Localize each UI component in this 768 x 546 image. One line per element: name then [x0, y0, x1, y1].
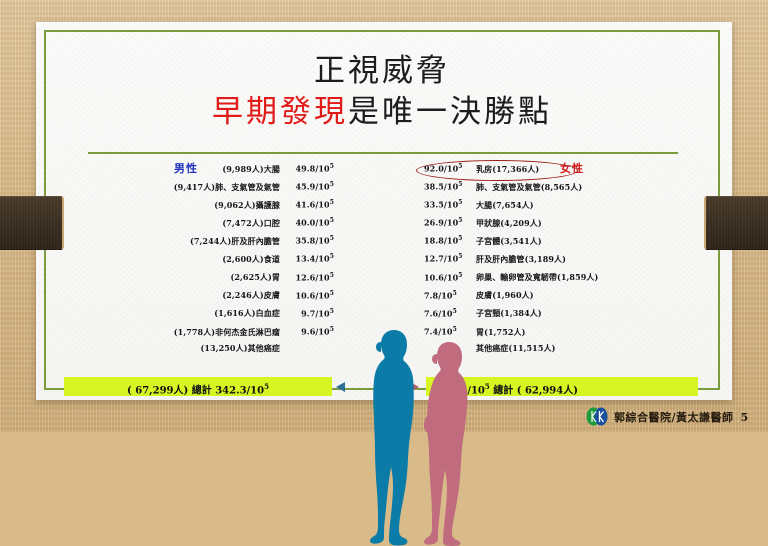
footer-credit: 郭綜合醫院/黃太謙醫師5 — [614, 409, 749, 425]
female-site-label: 子宮頸(1,384人) — [476, 304, 542, 322]
male-rate-value: 45.9/105 — [284, 176, 334, 196]
male-site-label: (7,244人)肝及肝內膽管 — [190, 232, 280, 250]
footer-credit-text: 郭綜合醫院/黃太謙醫師 — [614, 411, 734, 424]
male-data-column: (9,989人)大腸49.8/105(9,417人)肺、支氣管及氣管45.9/1… — [44, 158, 340, 357]
cancer-incidence-table: 男性 女性 (9,989人)大腸49.8/105(9,417人)肺、支氣管及氣管… — [44, 158, 720, 396]
footer-page-number: 5 — [741, 411, 749, 424]
male-rate-value: 35.8/105 — [284, 230, 334, 250]
male-rate-value: 41.6/105 — [284, 194, 334, 214]
male-site-label: (1,778人)非何杰金氏淋巴瘤 — [174, 323, 280, 341]
female-row: 38.5/105肺、支氣管及氣管(8,565人) — [418, 176, 718, 194]
female-site-label: 乳房(17,366人) — [476, 160, 539, 178]
female-site-label: 其他癌症(11,515人) — [476, 339, 556, 357]
female-rate-value: 33.5/105 — [424, 194, 472, 214]
female-site-label: 子宮體(3,541人) — [476, 232, 542, 250]
male-row: (9,417人)肺、支氣管及氣管45.9/105 — [44, 176, 340, 194]
male-site-label: (9,062人)攝護腺 — [214, 196, 280, 214]
female-rate-value: 26.9/105 — [424, 212, 472, 232]
female-rate-value: 12.7/105 — [424, 248, 472, 268]
male-silhouette-icon — [368, 328, 416, 546]
female-row: 18.8/105子宮體(3,541人) — [418, 230, 718, 248]
male-row: (7,472人)口腔40.0/105 — [44, 212, 340, 230]
male-row: (2,625人)胃12.6/105 — [44, 267, 340, 285]
male-row: (1,778人)非何杰金氏淋巴瘤9.6/105 — [44, 321, 340, 339]
silhouette-figures — [366, 324, 474, 546]
female-site-label: 肝及肝內膽管(3,189人) — [476, 250, 566, 268]
female-silhouette-icon — [422, 340, 470, 546]
title-line-1: 正視威脅 — [44, 52, 720, 91]
title-line-2: 早期發現是唯一決勝點 — [44, 93, 720, 132]
male-row: (2,246人)皮膚10.6/105 — [44, 285, 340, 303]
title-separator-rule — [88, 152, 678, 154]
female-rate-value: 10.6/105 — [424, 267, 472, 287]
female-site-label: 卵巢、輸卵管及寬韌帶(1,859人) — [476, 268, 598, 286]
male-rate-value: 40.0/105 — [284, 212, 334, 232]
female-site-label: 胃(1,752人) — [476, 323, 526, 341]
male-site-label: (2,625人)胃 — [230, 268, 280, 286]
female-row: 33.5/105大腸(7,654人) — [418, 194, 718, 212]
male-row: (7,244人)肝及肝內膽管35.8/105 — [44, 230, 340, 248]
female-row: 12.7/105肝及肝內膽管(3,189人) — [418, 248, 718, 266]
male-site-label: (2,600人)食道 — [222, 250, 280, 268]
female-row: 92.0/105乳房(17,366人) — [418, 158, 718, 176]
male-total-bar: ( 67,299人) 總計 342.3/105 — [64, 377, 332, 396]
male-site-label: (2,246人)皮膚 — [222, 286, 280, 304]
male-site-label: (7,472人)口腔 — [222, 214, 280, 232]
title-highlight-text: 早期發現 — [212, 94, 348, 130]
slide-footer: 郭綜合醫院/黃太謙醫師5 — [0, 400, 768, 432]
female-row: 10.6/105卵巢、輸卵管及寬韌帶(1,859人) — [418, 267, 718, 285]
female-site-label: 甲狀腺(4,209人) — [476, 214, 542, 232]
female-rate-value: 18.8/105 — [424, 230, 472, 250]
male-rate-value: 49.8/105 — [284, 158, 334, 178]
female-site-label: 大腸(7,654人) — [476, 196, 534, 214]
female-rate-value: 92.0/105 — [424, 158, 472, 178]
male-site-label: (13,250人)其他癌症 — [201, 339, 281, 357]
male-rate-value: 10.6/105 — [284, 285, 334, 305]
female-row: 26.9/105甲狀腺(4,209人) — [418, 212, 718, 230]
female-row: 7.8/105皮膚(1,960人) — [418, 285, 718, 303]
hospital-logo-icon — [586, 407, 608, 426]
male-rate-value: 13.4/105 — [284, 248, 334, 268]
male-rate-value: 12.6/105 — [284, 267, 334, 287]
male-total-arrow-icon — [336, 382, 345, 392]
female-rate-value: 7.8/105 — [424, 285, 472, 305]
female-site-label: 肺、支氣管及氣管(8,565人) — [476, 178, 582, 196]
male-rate-value: 9.6/105 — [284, 321, 334, 341]
male-rate-value: 9.7/105 — [284, 303, 334, 323]
male-row: (9,062人)攝護腺41.6/105 — [44, 194, 340, 212]
female-rate-value: 7.6/105 — [424, 303, 472, 323]
male-site-label: (9,417人)肺、支氣管及氣管 — [174, 178, 280, 196]
female-rate-value: 38.5/105 — [424, 176, 472, 196]
female-site-label: 皮膚(1,960人) — [476, 286, 534, 304]
male-site-label: (1,616人)白血症 — [214, 304, 280, 322]
male-site-label: (9,989人)大腸 — [222, 160, 280, 178]
title-block: 正視威脅 早期發現是唯一決勝點 — [44, 52, 720, 132]
male-row: (2,600人)食道13.4/105 — [44, 248, 340, 266]
title-rest-text: 是唯一決勝點 — [348, 94, 552, 130]
male-row: (13,250人)其他癌症 — [44, 339, 340, 357]
female-row: 7.6/105子宮頸(1,384人) — [418, 303, 718, 321]
male-row: (9,989人)大腸49.8/105 — [44, 158, 340, 176]
male-row: (1,616人)白血症9.7/105 — [44, 303, 340, 321]
